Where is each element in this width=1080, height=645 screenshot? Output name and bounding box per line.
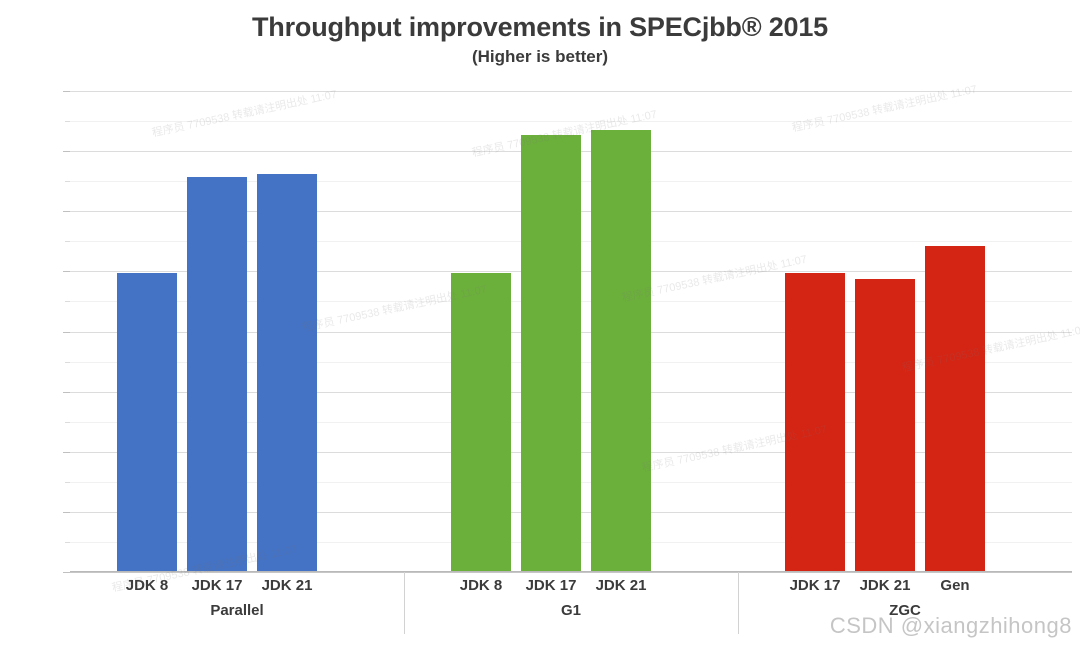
category-tick-label: JDK 21 [855,577,915,594]
y-axis-tick [65,362,70,363]
category-group-label: ZGC [738,602,1072,619]
y-axis-tick [65,422,70,423]
y-axis-tick [63,452,70,453]
bar [521,135,581,572]
bar [451,273,511,572]
category-tick-label: JDK 21 [257,577,317,594]
chart-title: Throughput improvements in SPECjbb® 2015 [0,10,1080,44]
category-tick-label: JDK 8 [117,577,177,594]
y-axis-tick [65,301,70,302]
bar [257,174,317,572]
y-axis-tick [63,392,70,393]
category-axis: JDK 8JDK 17JDK 21ParallelJDK 8JDK 17JDK … [70,572,1072,634]
chart-container: Throughput improvements in SPECjbb® 2015… [0,0,1080,645]
y-axis-tick [63,151,70,152]
y-axis-tick [63,271,70,272]
y-axis-tick [65,121,70,122]
category-separator [404,572,405,634]
category-separator [738,572,739,634]
category-tick-label: JDK 17 [521,577,581,594]
y-axis-tick [63,211,70,212]
y-axis-tick [65,542,70,543]
gridline-minor [70,121,1072,122]
y-axis-tick [63,91,70,92]
y-axis-tick [63,512,70,513]
y-axis-tick [65,482,70,483]
category-axis-topline [70,572,1072,573]
title-block: Throughput improvements in SPECjbb® 2015… [0,10,1080,69]
category-tick-label: JDK 17 [187,577,247,594]
plot-area [70,91,1072,572]
category-group-label: Parallel [70,602,404,619]
y-axis-tick [63,572,70,573]
bar [855,279,915,572]
category-tick-label: JDK 8 [451,577,511,594]
y-axis-tick [65,181,70,182]
category-tick-label: JDK 21 [591,577,651,594]
bar [187,177,247,572]
category-group-label: G1 [404,602,738,619]
bar [591,130,651,572]
bar [117,273,177,572]
category-tick-label: Gen [925,577,985,594]
category-tick-label: JDK 17 [785,577,845,594]
bar [785,273,845,572]
y-axis-tick [65,241,70,242]
gridline-major [70,91,1072,92]
chart-subtitle: (Higher is better) [0,45,1080,69]
y-axis-tick [63,332,70,333]
bar [925,246,985,572]
